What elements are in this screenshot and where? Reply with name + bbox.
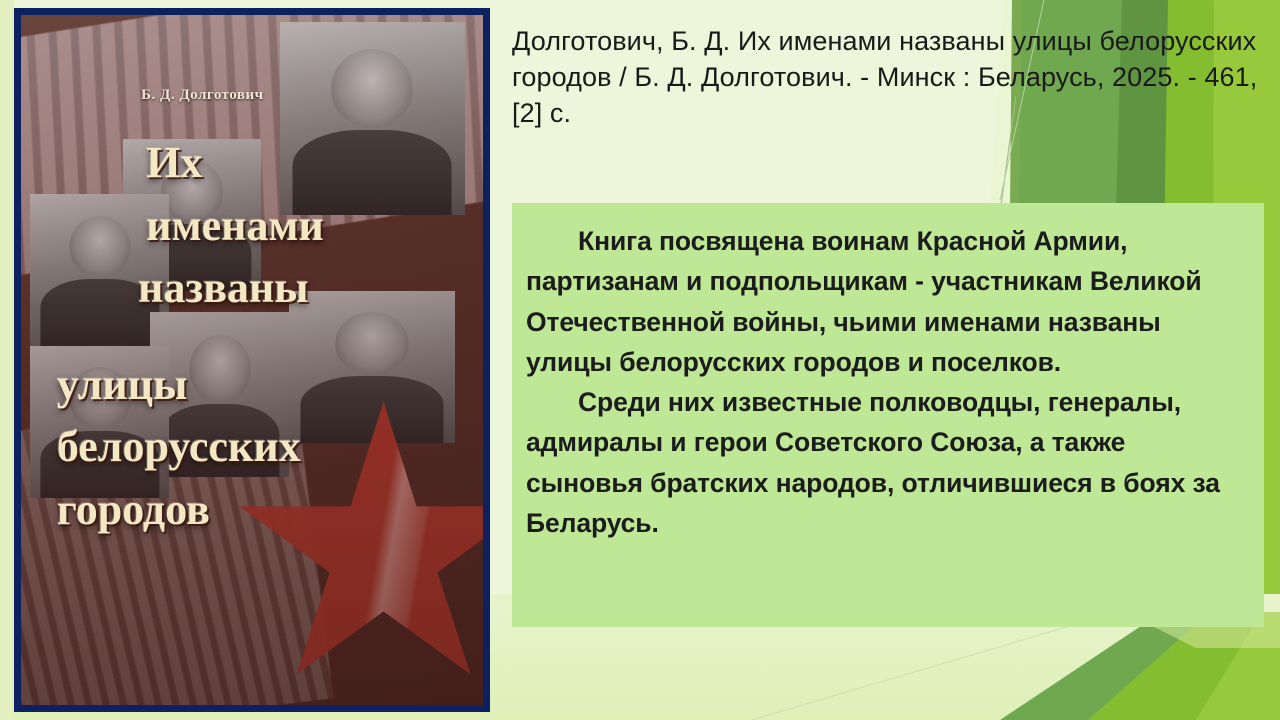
annotation-box: Книга посвящена воинам Красной Армии, па… [512, 203, 1264, 627]
cover-title-line-6: городов [49, 479, 456, 541]
left-accent-stripe [0, 0, 14, 720]
cover-author-line: Б. Д. Долготович [141, 87, 264, 104]
book-cover-artwork: Б. Д. Долготович Их именами названы улиц… [21, 15, 483, 705]
cover-title-line-1: Их [49, 132, 456, 194]
cover-title-line-3: названы [49, 257, 456, 319]
annotation-paragraph-1: Книга посвящена воинам Красной Армии, па… [526, 221, 1238, 382]
cover-title-line-4: улицы [49, 354, 456, 416]
annotation-paragraph-2: Среди них известные полководцы, генералы… [526, 382, 1238, 543]
cover-title: Их именами названы улицы белорусских гор… [49, 132, 456, 541]
cover-title-line-5: белорусских [49, 416, 456, 478]
bibliographic-citation: Долготович, Б. Д. Их именами названы ули… [512, 24, 1272, 132]
presentation-slide: Б. Д. Долготович Их именами названы улиц… [0, 0, 1280, 720]
cover-title-line-2: именами [49, 195, 456, 257]
book-cover-frame: Б. Д. Долготович Их именами названы улиц… [14, 8, 490, 712]
